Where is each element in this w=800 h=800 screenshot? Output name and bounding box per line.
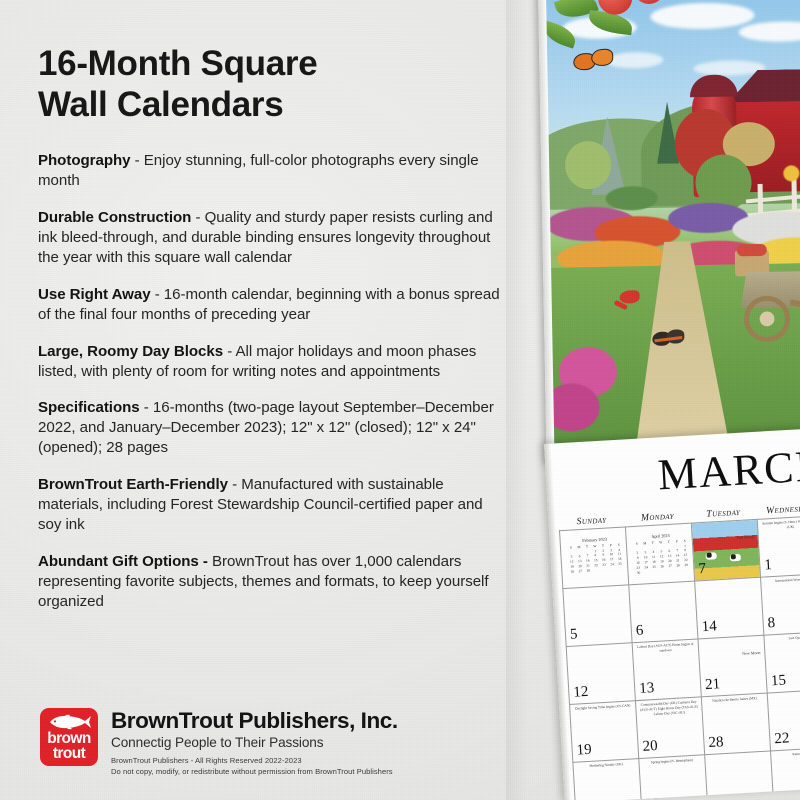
feature-lead: Large, Roomy Day Blocks [38,343,223,360]
day-cell-note: Last Quarter [768,634,800,642]
day-number: 22 [774,730,790,748]
day-cell-note: Daylight Saving Time begins (US-CAN) [573,703,632,711]
day-cell-note: Natalicio de Benito Juárez (MX) [705,696,764,704]
calendar-grid-page: MARCH Sunday Monday Tuesday Wednesday Fe… [544,427,800,800]
feature-lead: Specifications [38,399,140,416]
day-cell-note: Mothering Sunday (UK) [577,761,636,769]
feature-item: BrownTrout Earth-Friendly - Manufactured… [38,475,504,535]
mini-day [642,570,650,575]
mini-day: 26 [568,570,576,575]
day-number: 21 [705,676,721,694]
calendar-day-cell[interactable]: Ramadan begins29 [770,747,800,800]
day-number: 15 [771,672,787,690]
feature-item: Large, Roomy Day Blocks - All major holi… [38,342,504,382]
day-cell-note: International Women's Day [764,576,800,584]
day-number: 5 [570,626,578,643]
calendar-day-cell[interactable]: Labour Day (AUS-ACT) Purim begins at sun… [632,638,701,700]
calendar-day-cell[interactable]: 14 [694,577,763,639]
mini-day [682,568,690,573]
feature-item: Photography - Enjoy stunning, full-color… [38,151,504,191]
calendar-day-cell[interactable]: February 2023SMTWTFS12345678910111213141… [559,526,628,588]
mini-calendar: February 2023SMTWTFS12345678910111213141… [566,536,624,575]
day-number: 29 [777,788,793,800]
calendar-day-cell[interactable]: 6 [628,581,697,643]
trout-icon [46,713,92,731]
silo-cap-icon [690,74,738,97]
legal-line-1: BrownTrout Publishers - All Rights Reser… [111,756,398,767]
feature-lead: Durable Construction [38,209,191,226]
mini-day [666,569,674,574]
day-number: 12 [573,684,589,702]
feature-lead: Photography [38,152,131,169]
product-marketing-image: MARCH Sunday Monday Tuesday Wednesday Fe… [0,0,800,800]
brand-tagline: Connectig People to Their Passions [111,735,398,750]
day-cell-note: Ramadan begins [774,750,800,758]
mini-day: 30 [634,571,642,576]
calendar-day-cell[interactable]: New Moon21 [697,635,766,697]
brand-name: BrownTrout Publishers, Inc. [111,709,398,733]
feature-lead: Abundant Gift Options - [38,553,208,570]
day-cell-note: Labour Day (AUS-ACT) Purim begins at sun… [636,642,695,656]
feature-lead: BrownTrout Earth-Friendly [38,476,228,493]
day-number: 6 [635,623,643,640]
day-grid: Sunday Monday Tuesday Wednesday February… [558,499,800,800]
mini-day [674,568,682,573]
logo-word-bottom: trout [40,747,98,761]
day-number: 7 [698,561,706,578]
mini-day [650,570,658,575]
calendar-day-cell[interactable]: April 2023SMTWTFS12345678910111213141516… [625,523,694,585]
feature-lead: Use Right Away [38,286,151,303]
calendar-day-cell[interactable]: Spring begins (N. Hemisphere)27 [638,754,707,800]
browntrout-logo: brown trout [40,708,98,766]
day-number: 13 [639,680,655,698]
mini-day [616,567,624,572]
day-number: 19 [576,742,592,760]
title-line-1: 16-Month Square [38,44,317,83]
title-line-2: Wall Calendars [38,85,504,126]
mini-day: 27 [576,569,584,574]
day-cell-note: Autumn begins (S. Hem.) St. David's Day … [761,518,800,532]
day-cell-note: Commonwealth Day (UK) Canberra Day (AUS-… [639,700,699,719]
mini-day [600,568,608,573]
day-number: 14 [701,618,717,636]
day-number: 8 [767,615,775,632]
mini-day: 28 [584,569,592,574]
mini-calendar: April 2023SMTWTFS12345678910111213141516… [632,532,690,576]
feature-item: Use Right Away - 16-month calendar, begi… [38,285,504,325]
day-number: 1 [764,557,772,574]
cover-photograph [542,0,800,444]
month-title: MARCH [657,440,800,501]
logo-word-top: brown [40,732,98,746]
mini-day [608,567,616,572]
feature-item: Abundant Gift Options - BrownTrout has o… [38,552,504,612]
day-number: 27 [645,796,661,800]
calendar-day-cell[interactable]: Full Moon7 [691,519,760,581]
moon-phase-label: New Moon [742,650,760,656]
calendar-day-cell[interactable]: International Women's Day8 [760,573,800,635]
day-number: 20 [642,738,658,756]
calendar-day-cell[interactable] [704,750,773,800]
calendar-day-cell[interactable]: 22 [767,689,800,751]
calendar-day-cell[interactable]: Mothering Sunday (UK) [572,758,641,800]
legal-line-2: Do not copy, modify, or redistribute wit… [111,767,398,778]
calendar-day-cell[interactable]: Daylight Saving Time begins (US-CAN)19 [569,700,638,762]
calendar-day-cell[interactable]: 12 [566,642,635,704]
calendar-day-cell[interactable]: 5 [562,584,631,646]
legal-notice: BrownTrout Publishers - All Rights Reser… [111,756,398,778]
calendar-photo-page [538,0,800,462]
feature-item: Specifications - 16-months (two-page lay… [38,398,504,458]
wheelbarrow-icon [737,269,800,345]
calendar-day-cell[interactable]: Commonwealth Day (UK) Canberra Day (AUS-… [635,696,704,758]
marketing-copy-panel: 16-Month Square Wall Calendars Photograp… [0,0,530,800]
calendar-mockup: MARCH Sunday Monday Tuesday Wednesday Fe… [524,0,800,800]
feature-item: Durable Construction - Quality and sturd… [38,208,504,268]
brand-text-block: BrownTrout Publishers, Inc. Connectig Pe… [111,708,398,778]
mini-day [658,569,666,574]
day-number: 28 [708,734,724,752]
publisher-footer: brown trout BrownTrout Publishers, Inc. … [40,708,398,778]
mini-day [592,568,600,573]
calendar-day-cell[interactable]: Autumn begins (S. Hem.) St. David's Day … [757,515,800,577]
calendar-day-cell[interactable]: Last Quarter15 [763,631,800,693]
feature-list: Photography - Enjoy stunning, full-color… [38,151,504,612]
day-cell-note: Spring begins (N. Hemisphere) [642,757,701,765]
moon-phase-label: Full Moon [737,534,754,540]
page-title: 16-Month Square Wall Calendars [38,44,504,125]
calendar-day-cell[interactable]: Natalicio de Benito Juárez (MX)28 [701,693,770,755]
